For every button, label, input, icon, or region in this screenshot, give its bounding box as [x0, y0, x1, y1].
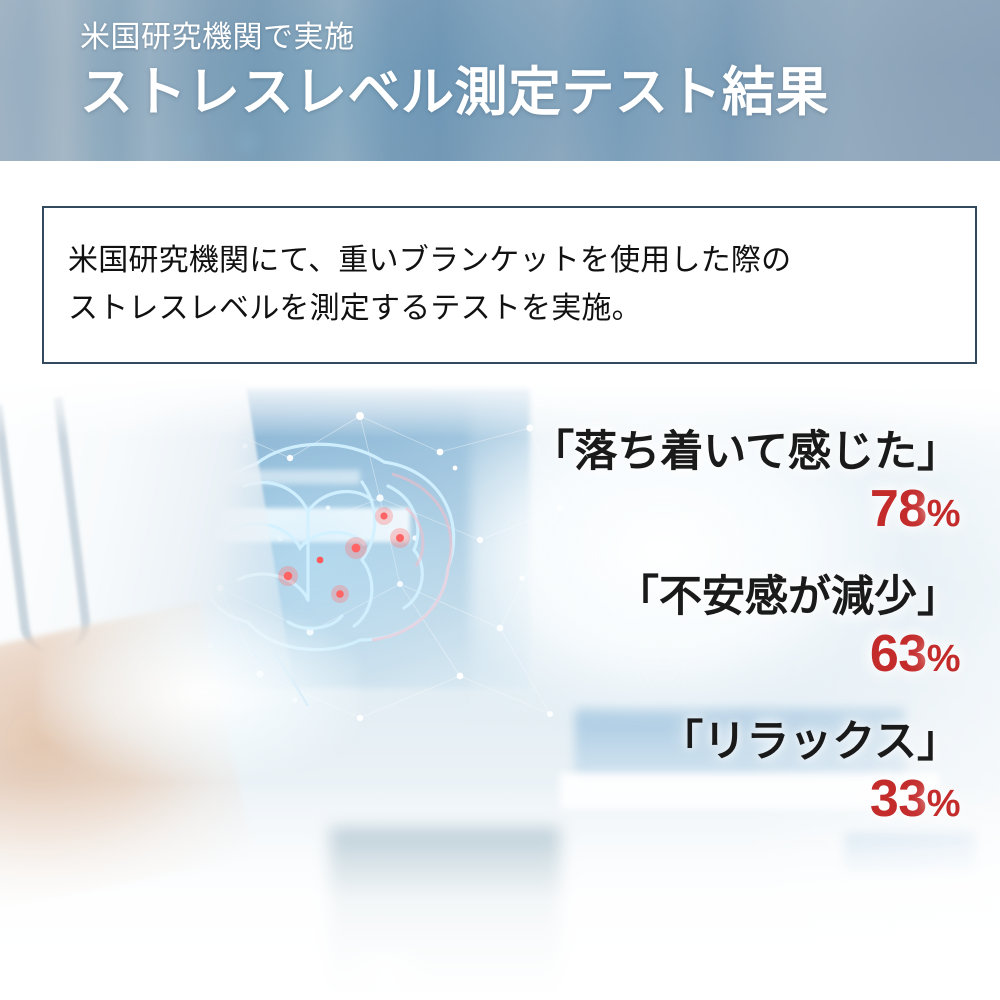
- stat-item: 「落ち着いて感じた」 78%: [420, 425, 960, 544]
- stat-label: 「リラックス」: [420, 715, 960, 769]
- infographic-page: 米国研究機関で実施 ストレスレベル測定テスト結果 米国研究機関にて、重いブランケ…: [0, 0, 1000, 1000]
- stat-label: 「落ち着いて感じた」: [420, 425, 960, 479]
- header-eyebrow: 米国研究機関で実施: [80, 18, 829, 58]
- stat-unit: %: [927, 493, 960, 535]
- stat-label: 「不安感が減少」: [420, 570, 960, 624]
- stat-value: 63%: [420, 624, 960, 689]
- stat-item: 「リラックス」 33%: [420, 715, 960, 834]
- stat-value: 33%: [420, 769, 960, 834]
- stat-unit: %: [927, 638, 960, 680]
- stat-unit: %: [927, 783, 960, 825]
- stat-number: 63: [870, 625, 927, 683]
- header-text-block: 米国研究機関で実施 ストレスレベル測定テスト結果: [80, 18, 829, 126]
- lead-line-2: ストレスレベルを測定するテストを実施。: [68, 285, 791, 333]
- page-title: ストレスレベル測定テスト結果: [80, 60, 829, 126]
- stat-number: 33: [870, 770, 927, 828]
- header-banner: 米国研究機関で実施 ストレスレベル測定テスト結果: [0, 0, 1000, 161]
- lead-description-box: 米国研究機関にて、重いブランケットを使用した際の ストレスレベルを測定するテスト…: [42, 206, 977, 364]
- stat-item: 「不安感が減少」 63%: [420, 570, 960, 689]
- stat-list: 「落ち着いて感じた」 78% 「不安感が減少」 63% 「リラックス」 33%: [420, 425, 960, 834]
- stat-value: 78%: [420, 479, 960, 544]
- lead-description-text: 米国研究機関にて、重いブランケットを使用した際の ストレスレベルを測定するテスト…: [44, 237, 791, 333]
- stat-number: 78: [870, 480, 927, 538]
- hand-glow: [40, 608, 360, 778]
- lead-line-1: 米国研究機関にて、重いブランケットを使用した際の: [68, 237, 791, 285]
